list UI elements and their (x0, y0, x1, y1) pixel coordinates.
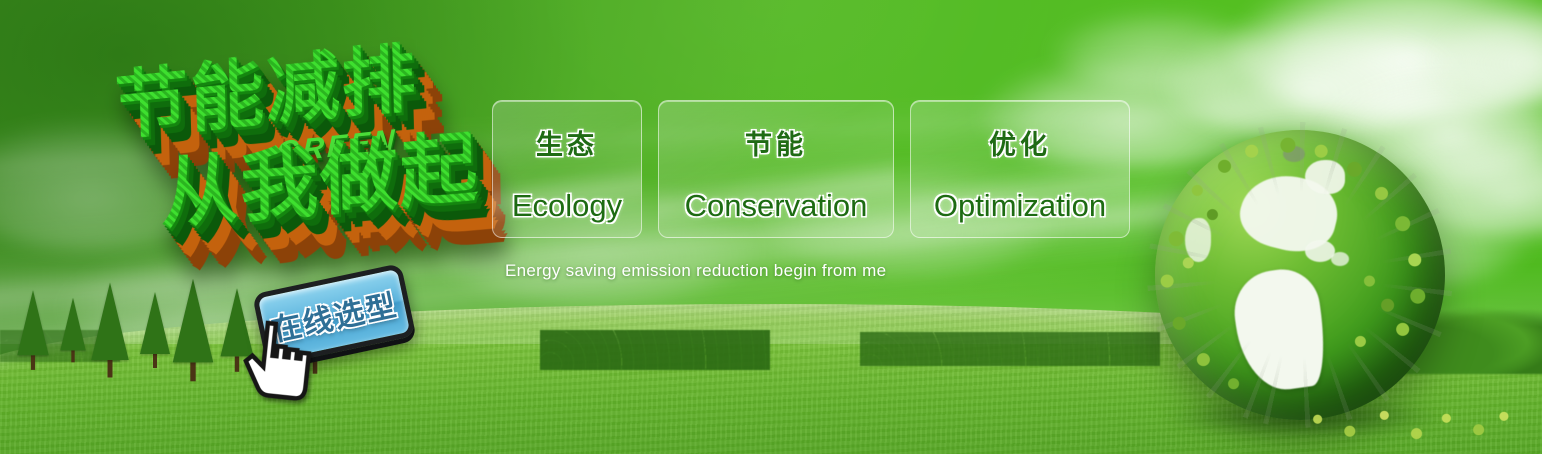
feature-card-cn-label: 优化 (989, 123, 1051, 162)
leafy-globe-icon (1155, 130, 1445, 420)
conifer-trees-icon (173, 279, 214, 382)
continent-shape (1331, 252, 1349, 266)
continent-shape (1305, 160, 1345, 194)
continent-shape (1185, 218, 1211, 262)
banner-tagline: Energy saving emission reduction begin f… (505, 261, 886, 281)
promo-banner: 节能减排 GREEN 从我做起 在线选型 生态 Ecology 节能 Conse… (0, 0, 1542, 454)
feature-card-en-label: Optimization (934, 188, 1106, 224)
feature-card-cn-label: 节能 (745, 123, 807, 162)
feature-card-en-label: Conservation (685, 188, 868, 224)
feature-card-optimization[interactable]: 优化 Optimization (910, 100, 1130, 238)
conifer-trees-icon (60, 298, 86, 363)
conifer-trees-icon (140, 292, 170, 368)
globe-sphere (1155, 130, 1445, 420)
hand-pointer-icon (234, 316, 316, 405)
feature-card-en-label: Ecology (512, 188, 622, 224)
feature-card-conservation[interactable]: 节能 Conservation (658, 100, 894, 238)
conifer-trees-icon (91, 283, 129, 378)
feature-card-list: 生态 Ecology 节能 Conservation 优化 Optimizati… (492, 100, 1130, 238)
continent-shape (1283, 146, 1305, 162)
continent-shape (1229, 265, 1331, 396)
feature-card-cn-label: 生态 (536, 123, 598, 162)
feature-card-ecology[interactable]: 生态 Ecology (492, 100, 642, 238)
conifer-trees-icon (17, 290, 49, 370)
